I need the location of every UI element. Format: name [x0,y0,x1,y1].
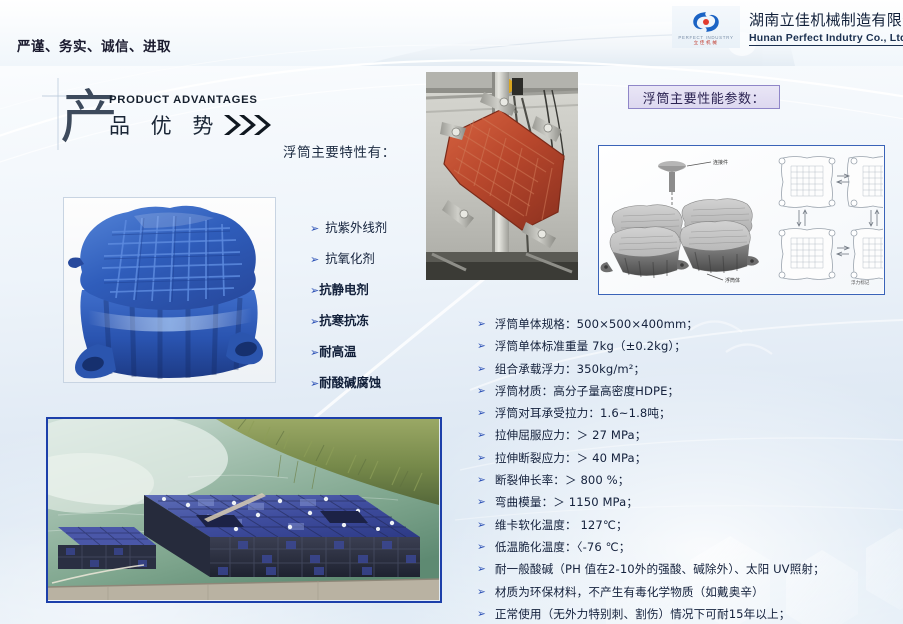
triple-chevron-icon [222,113,276,137]
feature-label: 抗氧化剂 [325,249,375,267]
arrow-bullet-icon: ➢ [310,346,319,359]
product-photo-pontoon-platform [46,417,442,603]
feature-item: ➢ 耐高温 [310,342,460,360]
feature-item: ➢ 抗寒抗冻 [310,311,460,329]
arrow-bullet-icon: ➢ [477,429,486,441]
arrow-bullet-icon: ➢ [477,563,486,575]
spec-item: ➢ 正常使用（无外力特别刺、割伤）情况下可耐15年以上； [477,606,877,622]
arrow-bullet-icon: ➢ [310,253,319,266]
spec-item: ➢ 拉伸断裂应力：＞ 40 MPa； [477,450,877,466]
spec-label: 浮筒材质：高分子量高密度HDPE； [495,383,679,399]
feature-label: 抗紫外线剂 [325,218,387,236]
arrow-bullet-icon: ➢ [477,474,486,486]
spec-label: 耐一般酸碱（PH 值在2-10外的强酸、碱除外）、太阳 UV照射； [495,561,825,577]
logo-subtext-cn: 立佳机械 [694,40,719,46]
features-heading: 浮筒主要特性有： [283,141,396,161]
company-logo: PERFECT INDUSTRY 立佳机械 [672,6,740,48]
specifications-list: ➢ 浮筒单体规格：500×500×400mm； ➢ 浮筒单体标准重量 7kg（±… [477,316,877,624]
company-slogan: 严谨、务实、诚信、进取 [17,35,171,55]
spec-item: ➢ 材质为环保材料，不产生有毒化学物质（如戴奥辛） [477,584,877,600]
arrow-bullet-icon: ➢ [310,284,319,297]
spec-label: 拉伸屈服应力：＞ 27 MPa； [495,427,647,443]
spec-item: ➢ 维卡软化温度： 127℃； [477,517,877,533]
company-name-en: Hunan Perfect Indutry Co., Ltd. [749,32,903,46]
spec-item: ➢ 拉伸屈服应力：＞ 27 MPa； [477,427,877,443]
arrow-bullet-icon: ➢ [477,363,486,375]
spec-item: ➢ 断裂伸长率：＞ 800 %； [477,472,877,488]
svg-text:浮筒体: 浮筒体 [725,277,740,284]
arrow-bullet-icon: ➢ [477,407,486,419]
spec-item: ➢ 耐一般酸碱（PH 值在2-10外的强酸、碱除外）、太阳 UV照射； [477,561,877,577]
slide-root: 严谨、务实、诚信、进取 PERFECT INDUSTRY 立佳机械 湖南立佳机械… [0,0,903,624]
assembly-diagram-panel: 连接件 [598,145,885,295]
arrow-bullet-icon: ➢ [477,519,486,531]
section-title: 产 PRODUCT ADVANTAGES 品 优 势 [52,86,312,148]
feature-label: 抗寒抗冻 [319,311,369,329]
spec-header-label: 浮筒主要性能参数： [643,88,765,107]
spec-label: 断裂伸长率：＞ 800 %； [495,472,630,488]
spec-label: 材质为环保材料，不产生有毒化学物质（如戴奥辛） [495,584,764,600]
section-title-cn-row: 品 优 势 [109,110,276,140]
feature-item: ➢ 耐酸碱腐蚀 [310,373,460,391]
company-name-cn: 湖南立佳机械制造有限公司 [749,9,903,30]
spec-label: 拉伸断裂应力：＞ 40 MPa； [495,450,647,466]
arrow-bullet-icon: ➢ [477,586,486,598]
spec-label: 浮筒单体标准重量 7kg（±0.2kg）； [495,338,686,354]
spec-item: ➢ 浮筒对耳承受拉力：1.6~1.8吨； [477,405,877,421]
spec-item: ➢ 弯曲模量：＞ 1150 MPa； [477,494,877,510]
arrow-bullet-icon: ➢ [310,222,319,235]
feature-label: 耐高温 [319,342,356,360]
arrow-bullet-icon: ➢ [477,318,486,330]
spec-item: ➢ 组合承载浮力：350kg/m²； [477,361,877,377]
feature-label: 耐酸碱腐蚀 [319,373,381,391]
spec-label: 浮筒对耳承受拉力：1.6~1.8吨； [495,405,671,421]
spec-item: ➢ 浮筒材质：高分子量高密度HDPE； [477,383,877,399]
spec-label: 组合承载浮力：350kg/m²； [495,361,645,377]
spec-label: 正常使用（无外力特别刺、割伤）情况下可耐15年以上； [495,606,791,622]
product-photo-mold [426,72,578,280]
spec-item: ➢ 浮筒单体规格：500×500×400mm； [477,316,877,332]
spec-label: 维卡软化温度： 127℃； [495,517,628,533]
swirl-logo-icon [691,10,721,34]
feature-item: ➢ 抗静电剂 [310,280,460,298]
svg-text:连接件: 连接件 [713,159,728,166]
arrow-bullet-icon: ➢ [477,385,486,397]
spec-label: 低温脆化温度：〈-76 ℃； [495,539,631,555]
company-name-block: 湖南立佳机械制造有限公司 Hunan Perfect Indutry Co., … [749,9,903,46]
section-title-cn: 品 优 势 [109,110,220,140]
product-photo-float [63,197,276,383]
spec-label: 浮筒单体规格：500×500×400mm； [495,316,698,332]
spec-label: 弯曲模量：＞ 1150 MPa； [495,494,638,510]
arrow-bullet-icon: ➢ [477,541,486,553]
arrow-bullet-icon: ➢ [477,452,486,464]
section-title-en: PRODUCT ADVANTAGES [109,94,258,106]
arrow-bullet-icon: ➢ [477,496,486,508]
arrow-bullet-icon: ➢ [477,340,486,352]
arrow-bullet-icon: ➢ [477,608,486,620]
spec-item: ➢ 低温脆化温度：〈-76 ℃； [477,539,877,555]
arrow-bullet-icon: ➢ [310,315,319,328]
arrow-bullet-icon: ➢ [310,377,319,390]
svg-text:浮力标记: 浮力标记 [851,279,870,286]
feature-label: 抗静电剂 [319,280,369,298]
company-identity: PERFECT INDUSTRY 立佳机械 湖南立佳机械制造有限公司 Hunan… [672,6,903,48]
spec-header-box: 浮筒主要性能参数： [628,85,780,109]
spec-item: ➢ 浮筒单体标准重量 7kg（±0.2kg）； [477,338,877,354]
